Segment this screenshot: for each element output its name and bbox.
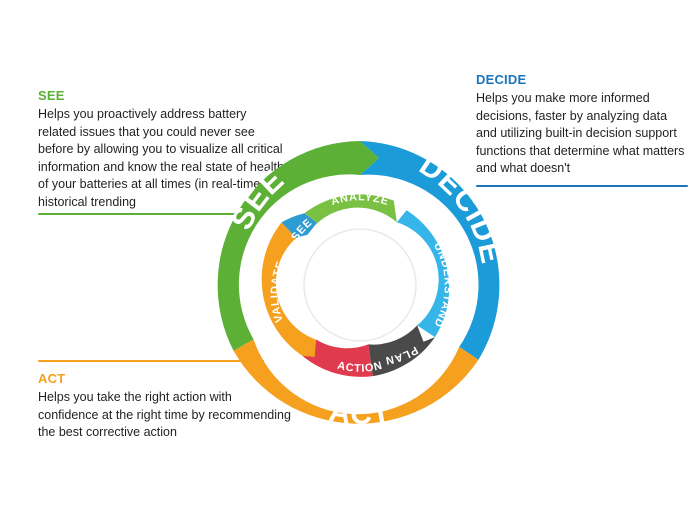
callout-decide-title: DECIDE [476,72,688,87]
cycle-wheel-diagram: SEE DECIDE ACT [209,134,511,436]
callout-see-title: SEE [38,88,288,103]
infographic-canvas: SEE Helps you proactively address batter… [0,0,692,514]
outer-label-act: ACT [327,394,394,430]
